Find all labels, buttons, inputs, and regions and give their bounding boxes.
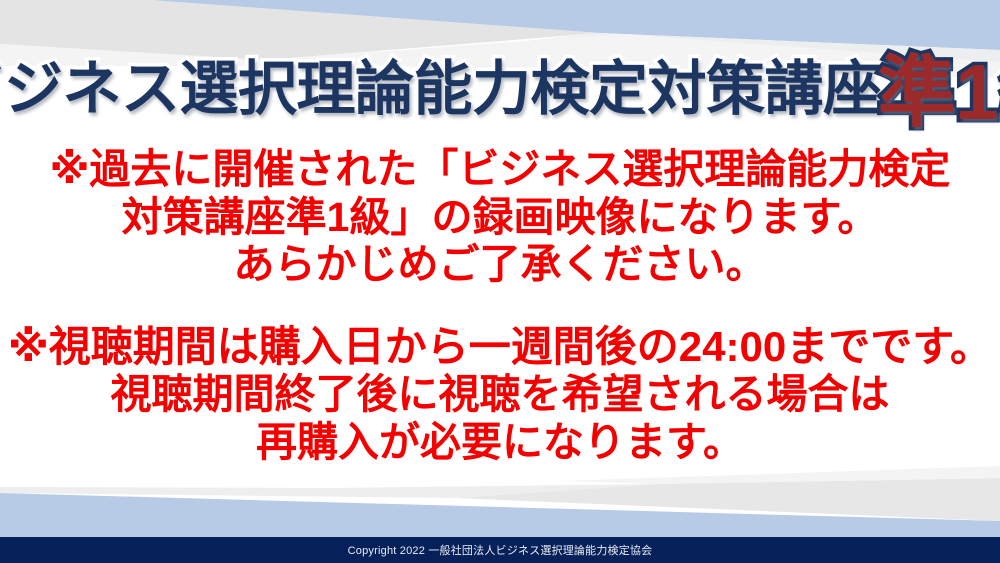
body-copy: ※過去に開催された「ビジネス選択理論能力検定 対策講座準1級」の録画映像になりま… bbox=[0, 146, 1000, 466]
notice-line: 再購入が必要になります。 bbox=[0, 419, 1000, 467]
title-rank-big-text: 準1 bbox=[878, 53, 998, 131]
page-title: ビジネス選択理論能力検定 対策講座 準1 級 bbox=[0, 48, 1000, 130]
deco-bottom-gray-mid bbox=[0, 484, 660, 498]
notice-line: ※視聴期間は購入日から一週間後の24:00までです。 bbox=[0, 323, 1000, 372]
title-main-text: ビジネス選択理論能力検定 bbox=[0, 60, 648, 119]
deco-bottom-blue-band bbox=[0, 493, 1000, 537]
deco-top-blue-wedge bbox=[150, 0, 1000, 50]
notice-paragraph-1: ※過去に開催された「ビジネス選択理論能力検定 対策講座準1級」の録画映像になりま… bbox=[0, 146, 1000, 289]
notice-line: 対策講座準1級」の録画映像になります。 bbox=[0, 194, 1000, 242]
deco-bottom-gray-right bbox=[455, 478, 1000, 521]
notice-line: 視聴期間終了後に視聴を希望される場合は bbox=[0, 371, 1000, 419]
slide-canvas: ビジネス選択理論能力検定 対策講座 準1 級 ※過去に開催された「ビジネス選択理… bbox=[0, 0, 1000, 563]
footer-bar: Copyright 2022 一般社団法人ビジネス選択理論能力検定協会 bbox=[0, 537, 1000, 563]
deco-bottom-light-sliver bbox=[560, 466, 1000, 484]
copyright-text: Copyright 2022 一般社団法人ビジネス選択理論能力検定協会 bbox=[348, 542, 653, 558]
notice-paragraph-2: ※視聴期間は購入日から一週間後の24:00までです。 視聴期間終了後に視聴を希望… bbox=[0, 323, 1000, 467]
notice-line: あらかじめご了承ください。 bbox=[0, 241, 1000, 289]
notice-line: ※過去に開催された「ビジネス選択理論能力検定 bbox=[0, 146, 1000, 194]
title-subtitle-text: 対策講座 bbox=[648, 60, 882, 119]
